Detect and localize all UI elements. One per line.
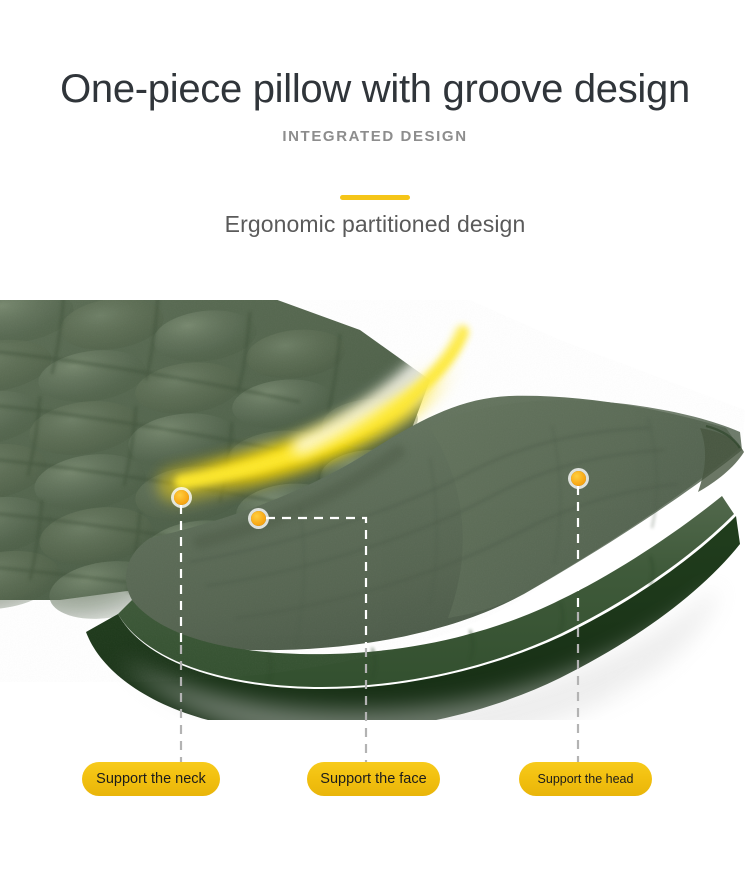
callout-pill-head[interactable]: Support the head (519, 762, 652, 796)
page-subheadline: Ergonomic partitioned design (0, 211, 750, 238)
accent-divider (340, 195, 410, 200)
callout-dot-neck[interactable] (174, 490, 189, 505)
image-fade-bottom (0, 860, 750, 889)
callout-pill-face[interactable]: Support the face (307, 762, 440, 796)
page-title: One-piece pillow with groove design (0, 62, 750, 116)
product-illustration (0, 300, 750, 720)
product-image (0, 300, 750, 720)
divider-wrapper (0, 187, 750, 193)
callout-dot-face[interactable] (251, 511, 266, 526)
header-block: One-piece pillow with groove design INTE… (0, 0, 750, 238)
callout-dot-head[interactable] (571, 471, 586, 486)
page-subtitle-kicker: INTEGRATED DESIGN (0, 128, 750, 145)
callout-pill-neck[interactable]: Support the neck (82, 762, 220, 796)
product-feature-page: One-piece pillow with groove design INTE… (0, 0, 750, 889)
